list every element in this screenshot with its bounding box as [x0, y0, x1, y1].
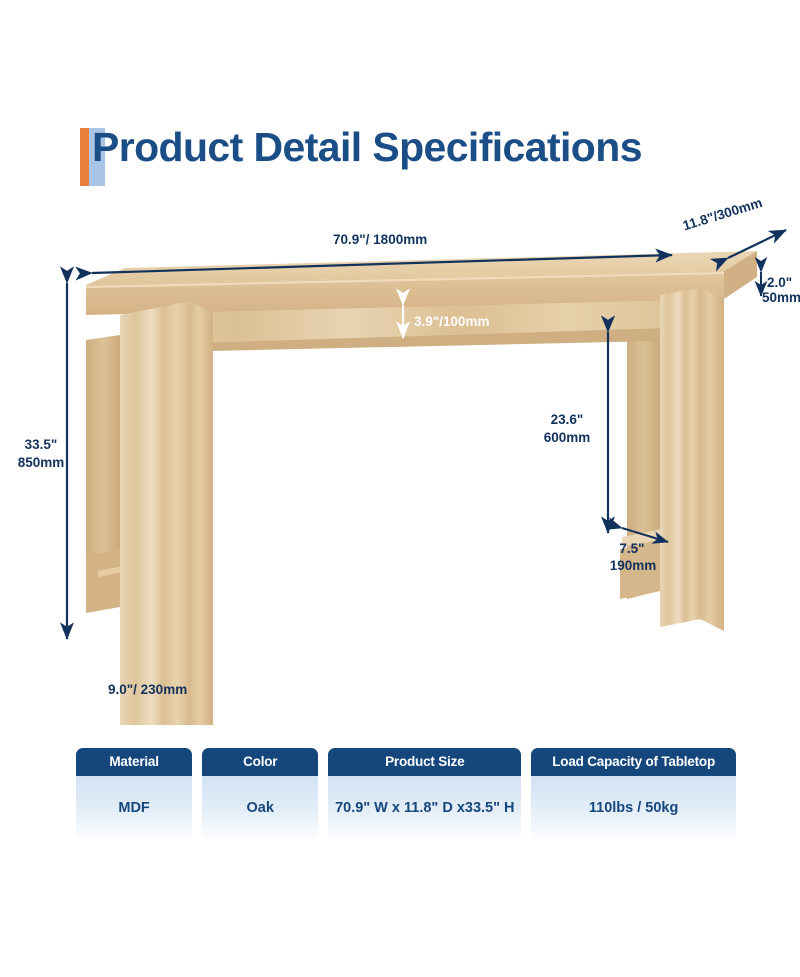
dimension-label-clearance-line1: 23.6": [534, 412, 600, 427]
right-leg-front: [660, 288, 700, 627]
page-title: Product Detail Specifications: [80, 126, 105, 188]
dimension-label-top-thickness-line2: 50mm: [762, 290, 800, 305]
product-diagram: [0, 195, 800, 725]
spec-card-product-size-header: Product Size: [328, 748, 521, 776]
dimension-label-notch-line1: 7.5": [608, 541, 656, 556]
dimension-label-foot-depth: 9.0"/ 230mm: [108, 682, 187, 697]
left-leg-front-lower: [120, 609, 190, 725]
left-leg-side: [190, 301, 213, 643]
left-leg-inner-foot: [86, 550, 120, 613]
page-title-text: Product Detail Specifications: [92, 124, 642, 171]
right-leg-foot: [660, 577, 700, 627]
title-accent-orange-bar: [80, 128, 89, 186]
spec-table: Material MDF Color Oak Product Size 70.9…: [76, 748, 736, 844]
dimension-label-width: 70.9"/ 1800mm: [333, 232, 427, 247]
spec-card-load-capacity-header: Load Capacity of Tabletop: [531, 748, 736, 776]
spec-card-color: Color Oak: [202, 748, 318, 842]
left-leg-side-lower: [190, 609, 213, 725]
spec-card-color-value: Oak: [202, 776, 318, 842]
dimension-label-height-line1: 33.5": [5, 437, 77, 452]
spec-card-material-header: Material: [76, 748, 192, 776]
spec-card-load-capacity: Load Capacity of Tabletop 110lbs / 50kg: [531, 748, 736, 842]
spec-card-material: Material MDF: [76, 748, 192, 842]
dimension-label-apron: 3.9"/100mm: [414, 314, 489, 329]
dimension-label-clearance-line2: 600mm: [534, 430, 600, 445]
dimension-label-height-line2: 850mm: [5, 455, 77, 470]
right-leg-side: [700, 288, 724, 631]
left-leg-front: [120, 301, 190, 647]
spec-card-product-size: Product Size 70.9" W x 11.8" D x33.5" H: [328, 748, 521, 842]
spec-card-product-size-value: 70.9" W x 11.8" D x33.5" H: [328, 776, 521, 842]
spec-card-load-capacity-value: 110lbs / 50kg: [531, 776, 736, 842]
dimension-label-top-thickness-line1: 2.0": [767, 275, 792, 290]
spec-card-color-header: Color: [202, 748, 318, 776]
spec-card-material-value: MDF: [76, 776, 192, 842]
dimension-label-notch-line2: 190mm: [604, 558, 662, 573]
